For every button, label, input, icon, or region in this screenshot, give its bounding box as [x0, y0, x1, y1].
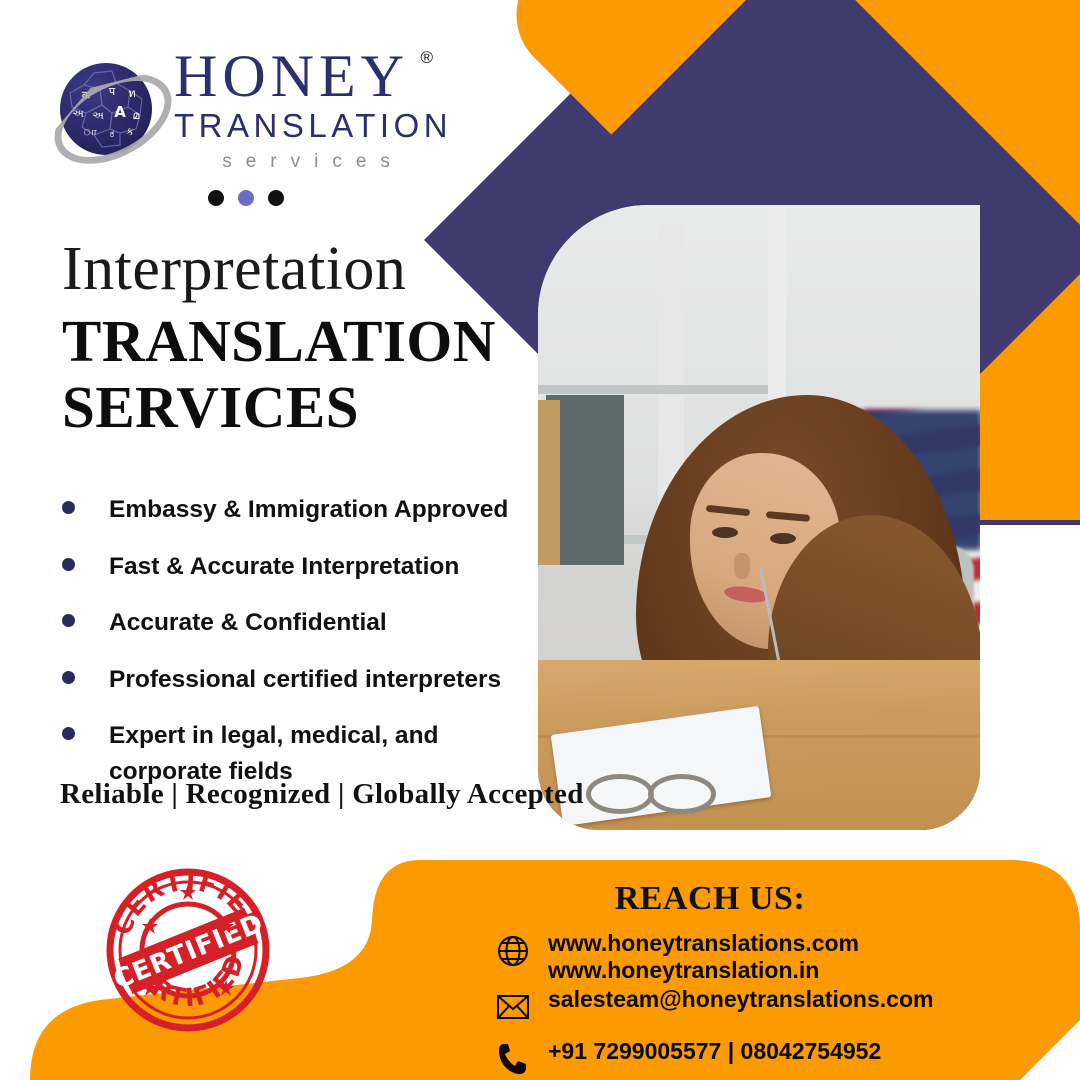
dot-purple: [238, 190, 254, 206]
website-line-1: www.honeytranslations.com: [548, 930, 859, 956]
background-wood-panel: [538, 400, 560, 565]
headline-line-1: TRANSLATION: [62, 308, 496, 374]
phone-text: +91 7299005577 | 08042754952: [548, 1038, 881, 1065]
phone-icon: [492, 1038, 534, 1080]
headline-line-2: SERVICES: [62, 374, 496, 440]
website-text: www.honeytranslations.com www.honeytrans…: [548, 930, 859, 985]
feature-list: Embassy & Immigration Approved Fast & Ac…: [52, 492, 522, 810]
decorative-dots: [208, 190, 284, 206]
brand-logo[interactable]: क प ท અ અ A മ ா ಕ ક HONEY: [52, 48, 452, 173]
email-text: salesteam@honeytranslations.com: [548, 986, 933, 1013]
eye: [712, 527, 738, 538]
eyeglasses: [586, 774, 736, 808]
page-title: TRANSLATION SERVICES: [62, 308, 496, 440]
contact-row-website[interactable]: www.honeytranslations.com www.honeytrans…: [492, 930, 859, 985]
bullet-icon: [62, 614, 75, 627]
feature-text: Embassy & Immigration Approved: [109, 492, 508, 528]
logo-name-secondary: TRANSLATION: [174, 107, 452, 145]
poster-canvas: क प ท અ અ A മ ா ಕ ક HONEY: [0, 0, 1080, 1080]
logo-name-primary-text: HONEY: [174, 43, 409, 109]
nose: [734, 553, 750, 579]
dot-black: [208, 190, 224, 206]
shelf-line: [538, 385, 768, 394]
tagline: Reliable | Recognized | Globally Accepte…: [60, 778, 584, 811]
globe-icon: [492, 930, 534, 972]
eye: [770, 533, 796, 544]
bullet-icon: [62, 671, 75, 684]
contact-row-email[interactable]: salesteam@honeytranslations.com: [492, 986, 933, 1028]
website-line-2: www.honeytranslation.in: [548, 957, 819, 983]
feature-text: Fast & Accurate Interpretation: [109, 549, 459, 585]
logo-name-tertiary: services: [174, 151, 452, 173]
list-item: Professional certified interpreters: [52, 662, 522, 698]
bullet-icon: [62, 501, 75, 514]
logo-name-primary: HONEY ®: [174, 48, 409, 105]
logo-wordmark: HONEY ® TRANSLATION services: [174, 48, 452, 173]
headline-script: Interpretation: [62, 234, 406, 305]
registered-trademark-icon: ®: [420, 50, 433, 66]
contact-row-phone[interactable]: +91 7299005577 | 08042754952: [492, 1038, 881, 1080]
bullet-icon: [62, 727, 75, 740]
hero-photo: [538, 205, 980, 830]
contact-title: REACH US:: [410, 880, 1080, 918]
list-item: Accurate & Confidential: [52, 605, 522, 641]
list-item: Fast & Accurate Interpretation: [52, 549, 522, 585]
feature-text: Professional certified interpreters: [109, 662, 501, 698]
envelope-icon: [492, 986, 534, 1028]
contact-panel: REACH US: www.honeytranslations.com www.…: [410, 860, 1080, 1080]
bullet-icon: [62, 558, 75, 571]
list-item: Embassy & Immigration Approved: [52, 492, 522, 528]
feature-text: Accurate & Confidential: [109, 605, 387, 641]
certified-stamp-icon: CERTIFIED CERTIFIED CERTIFIED: [104, 866, 272, 1034]
dot-black: [268, 190, 284, 206]
globe-languages-icon: क प ท અ અ A മ ா ಕ ક: [52, 57, 160, 165]
